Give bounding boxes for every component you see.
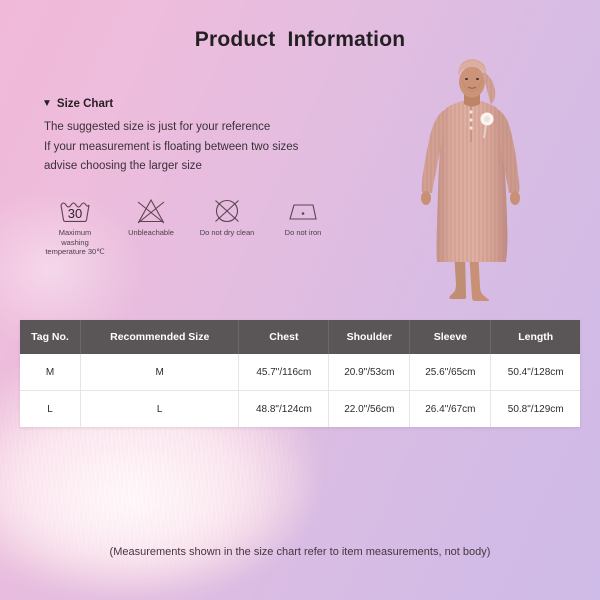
care-symbol-dry-clean-label: Do not dry clean [200,228,255,238]
description-line-2: If your measurement is floating between … [44,138,298,158]
size-table: Tag No. Recommended Size Chest Shoulder … [20,320,580,427]
care-symbol-iron: Do not iron [272,196,334,238]
cell-tag-no: L [20,391,80,428]
cell-recommended-size: L [80,391,238,428]
wash-tub-30-icon: 30 [58,196,92,226]
size-chart-description: The suggested size is just for your refe… [44,118,298,177]
button-2 [469,118,472,121]
size-table-body: M M 45.7"/116cm 20.9"/53cm 25.6"/65cm 50… [20,354,580,427]
table-row: L L 48.8"/124cm 22.0"/56cm 26.4"/67cm 50… [20,391,580,428]
care-symbol-wash: 30 Maximum washing temperature 30℃ [44,196,106,257]
button-1 [469,110,472,113]
do-not-bleach-icon [136,196,166,226]
left-hand [421,191,431,205]
cell-sleeve: 25.6"/65cm [410,354,491,391]
description-line-3: advise choosing the larger size [44,157,298,177]
cell-sleeve: 26.4"/67cm [410,391,491,428]
right-hand [510,191,520,205]
do-not-dry-clean-icon [212,196,242,226]
description-line-1: The suggested size is just for your refe… [44,118,298,138]
cell-shoulder: 20.9"/53cm [329,354,410,391]
left-eye [465,78,468,80]
size-chart-heading: ▼ Size Chart [42,98,113,110]
page-title: Product Information [0,28,600,52]
table-row: M M 45.7"/116cm 20.9"/53cm 25.6"/65cm 50… [20,354,580,391]
measurement-footnote: (Measurements shown in the size chart re… [0,546,600,558]
column-header-sleeve: Sleeve [410,320,491,354]
column-header-length: Length [491,320,580,354]
cell-shoulder: 22.0"/56cm [329,391,410,428]
right-eye [476,78,479,80]
size-table-header: Tag No. Recommended Size Chest Shoulder … [20,320,580,354]
column-header-recommended-size: Recommended Size [80,320,238,354]
do-not-iron-icon [287,196,319,226]
product-information-page: Product Information ▼ Size Chart The sug… [0,0,600,600]
care-symbol-bleach-label: Unbleachable [128,228,174,238]
cell-recommended-size: M [80,354,238,391]
cell-chest: 48.8"/124cm [239,391,329,428]
size-chart-heading-label: Size Chart [57,98,113,110]
column-header-shoulder: Shoulder [329,320,410,354]
cell-length: 50.8"/129cm [491,391,580,428]
caret-down-icon: ▼ [42,99,52,109]
column-header-tag-no: Tag No. [20,320,80,354]
button-3 [469,126,472,129]
wash-temperature-value: 30 [68,206,82,221]
care-symbol-dry-clean: Do not dry clean [196,196,258,238]
table-header-row: Tag No. Recommended Size Chest Shoulder … [20,320,580,354]
cell-chest: 45.7"/116cm [239,354,329,391]
cell-length: 50.4"/128cm [491,354,580,391]
product-photo [398,56,548,306]
care-symbol-iron-label: Do not iron [285,228,322,238]
care-symbol-wash-label: Maximum washing temperature 30℃ [44,228,106,257]
cell-tag-no: M [20,354,80,391]
care-symbols-row: 30 Maximum washing temperature 30℃ Unble… [44,196,334,257]
column-header-chest: Chest [239,320,329,354]
care-symbol-bleach: Unbleachable [120,196,182,238]
